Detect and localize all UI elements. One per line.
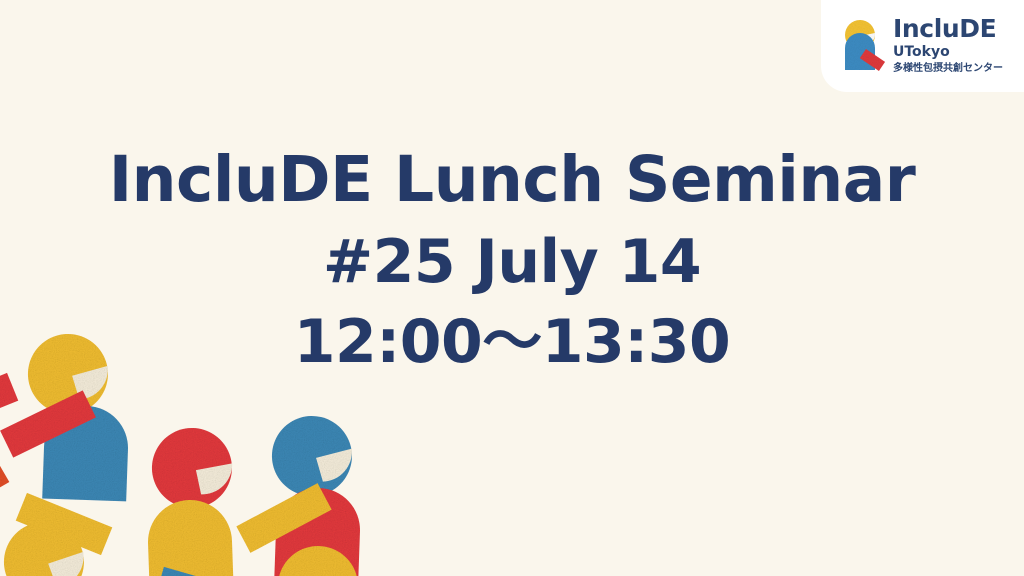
logo-subtitle-japanese: 多様性包摂共創センター — [893, 63, 1003, 76]
logo-text-block: IncluDE UTokyo 多様性包摂共創センター — [893, 16, 1003, 75]
title-block: IncluDE Lunch Seminar #25 July 14 12:00〜… — [0, 148, 1024, 372]
logo-panel: IncluDE UTokyo 多様性包摂共創センター — [821, 0, 1024, 92]
logo-wordmark: IncluDE — [893, 16, 1003, 42]
seminar-title: IncluDE Lunch Seminar — [0, 148, 1024, 211]
seminar-time: 12:00〜13:30 — [0, 312, 1024, 372]
seminar-number-and-date: #25 July 14 — [0, 232, 1024, 292]
logo-subtitle-english: UTokyo — [893, 44, 1003, 62]
seminar-slide: IncluDE Lunch Seminar #25 July 14 12:00〜… — [0, 0, 1024, 576]
include-logo-mark-icon — [835, 18, 887, 74]
